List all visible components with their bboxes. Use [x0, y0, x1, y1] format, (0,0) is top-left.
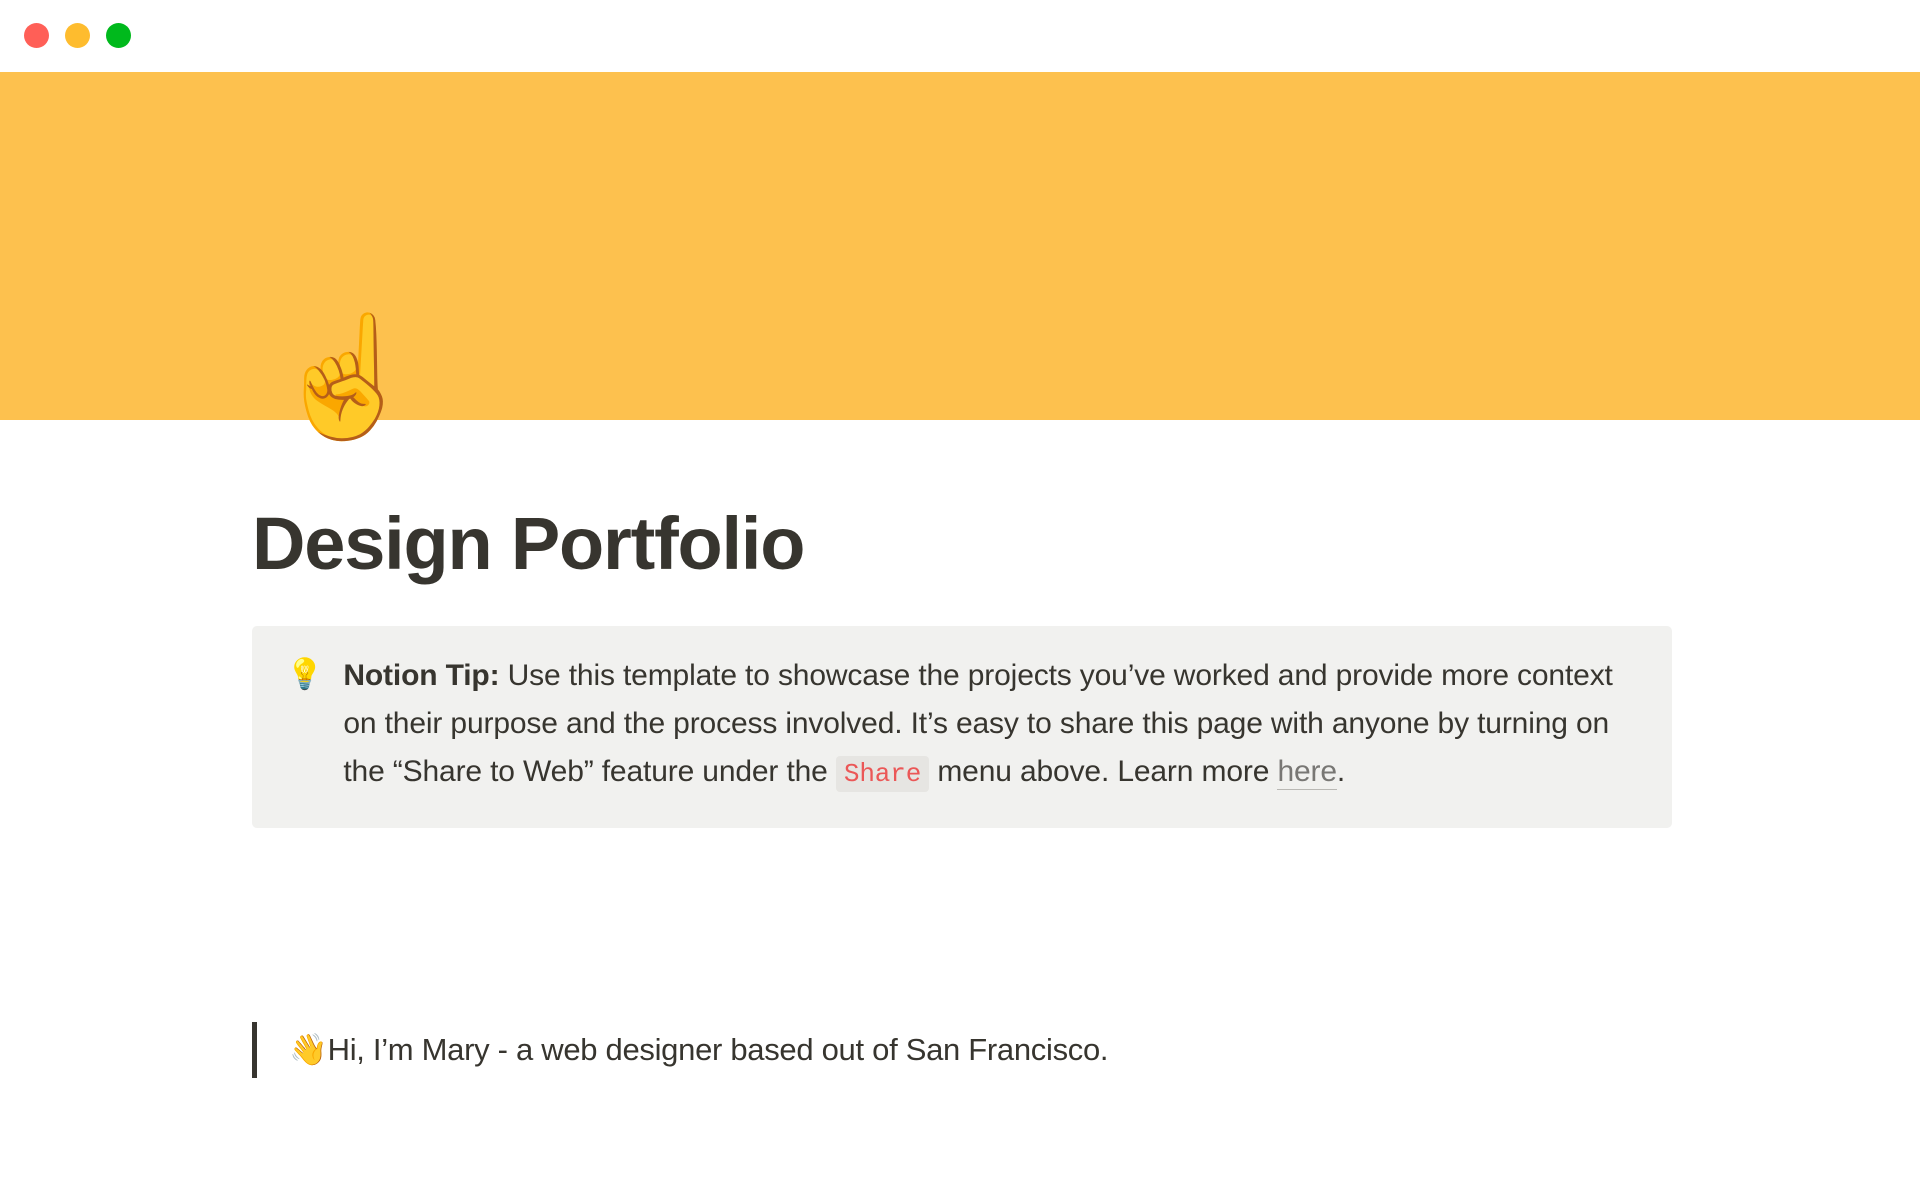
callout-lead-label: Notion Tip: — [343, 659, 499, 692]
traffic-light-group — [24, 23, 131, 48]
app-window: ☝️ Design Portfolio 💡 Notion Tip: Use th… — [0, 0, 1920, 1200]
callout-block[interactable]: 💡 Notion Tip: Use this template to showc… — [252, 626, 1672, 828]
light-bulb-icon: 💡 — [286, 652, 323, 698]
page-icon-emoji[interactable]: ☝️ — [272, 318, 419, 436]
minimize-window-button[interactable] — [65, 23, 90, 48]
callout-body-part-2: menu above. Learn more — [929, 755, 1277, 788]
learn-more-link[interactable]: here — [1277, 755, 1336, 790]
title-bar — [0, 0, 1920, 72]
close-window-button[interactable] — [24, 23, 49, 48]
zoom-window-button[interactable] — [106, 23, 131, 48]
inline-code-share: Share — [836, 756, 929, 792]
callout-body-part-3: . — [1337, 755, 1345, 788]
page-title[interactable]: Design Portfolio — [252, 503, 1672, 584]
quote-block[interactable]: 👋Hi, I’m Mary - a web designer based out… — [252, 1022, 1672, 1078]
quote-text: Hi, I’m Mary - a web designer based out … — [328, 1032, 1109, 1067]
waving-hand-icon: 👋 — [289, 1032, 328, 1067]
callout-text: Notion Tip: Use this template to showcas… — [343, 652, 1632, 798]
